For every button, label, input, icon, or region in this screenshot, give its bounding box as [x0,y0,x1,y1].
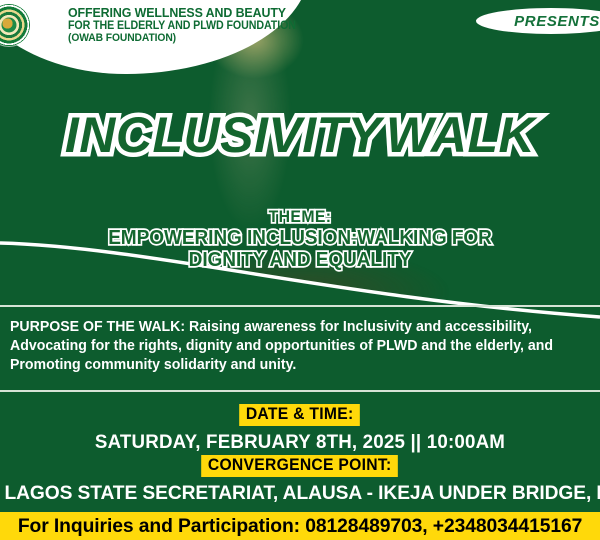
event-flyer: OFFERING WELLNESS AND BEAUTY FOR THE ELD… [0,0,600,540]
owab-circular-emblem-icon [0,4,30,46]
purpose-paragraph: PURPOSE OF THE WALK: Raising awareness f… [10,318,569,375]
divider-middle [0,390,600,392]
theme-text-line-1: EMPOWERING INCLUSION:WALKING FOR [21,227,579,248]
event-title-line-2: WALK [386,110,535,160]
date-time-section: DATE & TIME: SATURDAY, FEBRUARY 8TH, 202… [0,404,600,454]
convergence-point-value: LAGOS STATE SECRETARIAT, ALAUSA - IKEJA … [5,482,596,505]
theme-section: THEME: EMPOWERING INCLUSION:WALKING FOR … [0,208,600,270]
date-time-label: DATE & TIME: [240,404,361,426]
contact-bar: For Inquiries and Participation: 0812848… [0,512,600,540]
org-name-line-1: OFFERING WELLNESS AND BEAUTY [68,6,301,19]
org-name-line-3: (OWAB FOUNDATION) [68,33,296,44]
theme-label: THEME: [21,208,579,226]
divider-top [0,305,600,307]
convergence-point-label: CONVERGENCE POINT: [202,455,399,477]
theme-text-line-2: DIGNITY AND EQUALITY [21,249,579,270]
owab-logo [0,4,30,46]
event-title: INCLUSIVITY WALK [0,106,600,160]
event-title-line-1: INCLUSIVITY [65,110,382,160]
date-time-value: SATURDAY, FEBRUARY 8TH, 2025 || 10:00AM [12,431,588,454]
org-name-line-2: FOR THE ELDERLY AND PLWD FOUNDATION [68,20,296,32]
presents-label: PRESENTS [514,13,600,30]
contact-text: For Inquiries and Participation: 0812848… [18,515,582,538]
convergence-point-section: CONVERGENCE POINT: LAGOS STATE SECRETARI… [0,455,600,505]
organization-name-block: OFFERING WELLNESS AND BEAUTY FOR THE ELD… [30,6,316,45]
